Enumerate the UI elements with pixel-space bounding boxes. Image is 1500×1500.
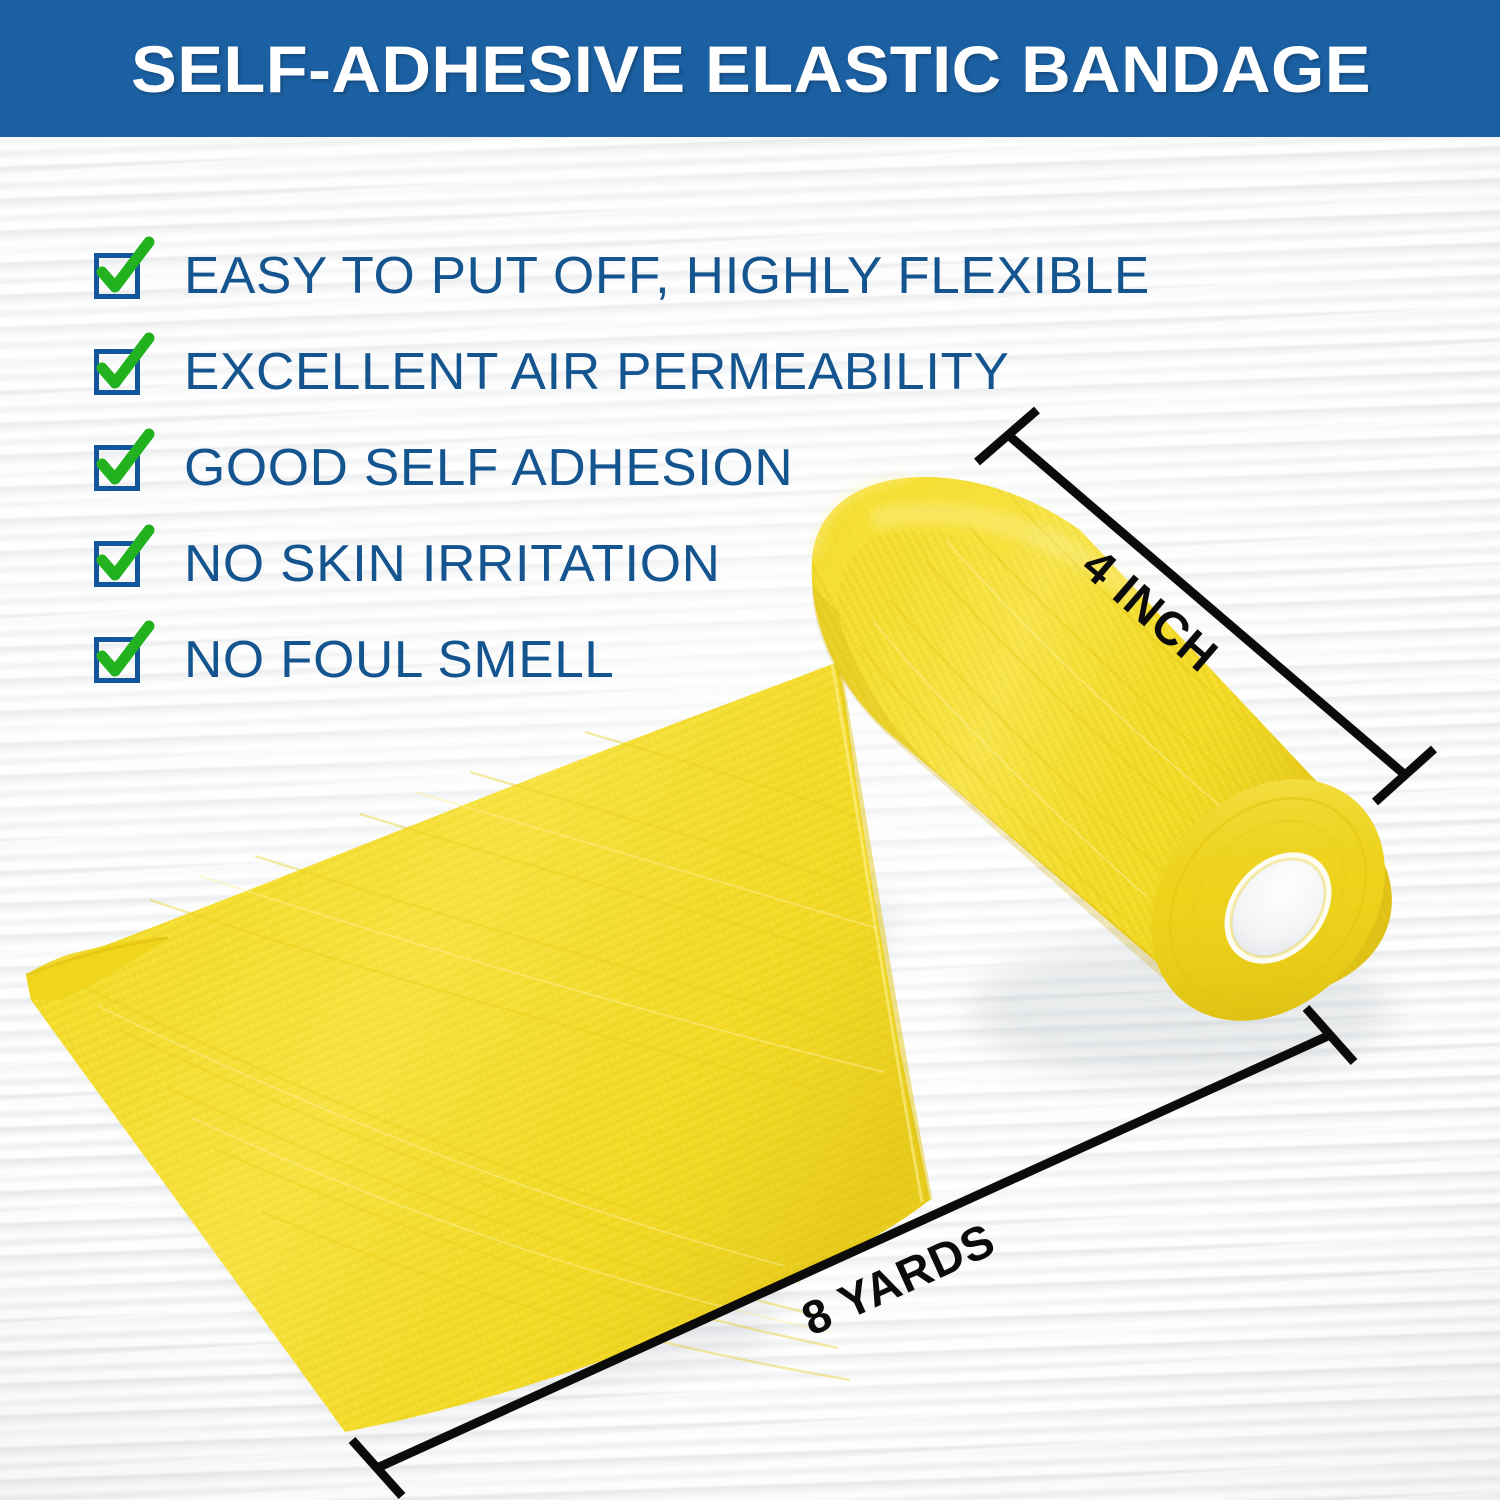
feature-list: EASY TO PUT OFF, HIGHLY FLEXIBLE EXCELLE… bbox=[94, 228, 1131, 708]
list-item: EXCELLENT AIR PERMEABILITY bbox=[94, 324, 1131, 420]
list-item: GOOD SELF ADHESION bbox=[94, 420, 1131, 516]
feature-label: NO SKIN IRRITATION bbox=[184, 538, 721, 590]
feature-label: EASY TO PUT OFF, HIGHLY FLEXIBLE bbox=[184, 250, 1150, 302]
list-item: EASY TO PUT OFF, HIGHLY FLEXIBLE bbox=[94, 228, 1131, 324]
feature-label: EXCELLENT AIR PERMEABILITY bbox=[184, 346, 1010, 398]
page-title: SELF-ADHESIVE ELASTIC BANDAGE bbox=[131, 36, 1371, 102]
checked-checkbox-icon bbox=[94, 637, 140, 683]
checked-checkbox-icon bbox=[94, 445, 140, 491]
product-illustration bbox=[0, 0, 1500, 1500]
product-infographic: SELF-ADHESIVE ELASTIC BANDAGE EASY TO PU… bbox=[0, 0, 1500, 1500]
bandage-tail bbox=[26, 662, 930, 1432]
checked-checkbox-icon bbox=[94, 253, 140, 299]
header-banner: SELF-ADHESIVE ELASTIC BANDAGE bbox=[0, 0, 1500, 137]
feature-label: NO FOUL SMELL bbox=[184, 634, 614, 686]
feature-label: GOOD SELF ADHESION bbox=[184, 442, 793, 494]
checked-checkbox-icon bbox=[94, 541, 140, 587]
list-item: NO FOUL SMELL bbox=[94, 612, 1131, 708]
checked-checkbox-icon bbox=[94, 349, 140, 395]
list-item: NO SKIN IRRITATION bbox=[94, 516, 1131, 612]
